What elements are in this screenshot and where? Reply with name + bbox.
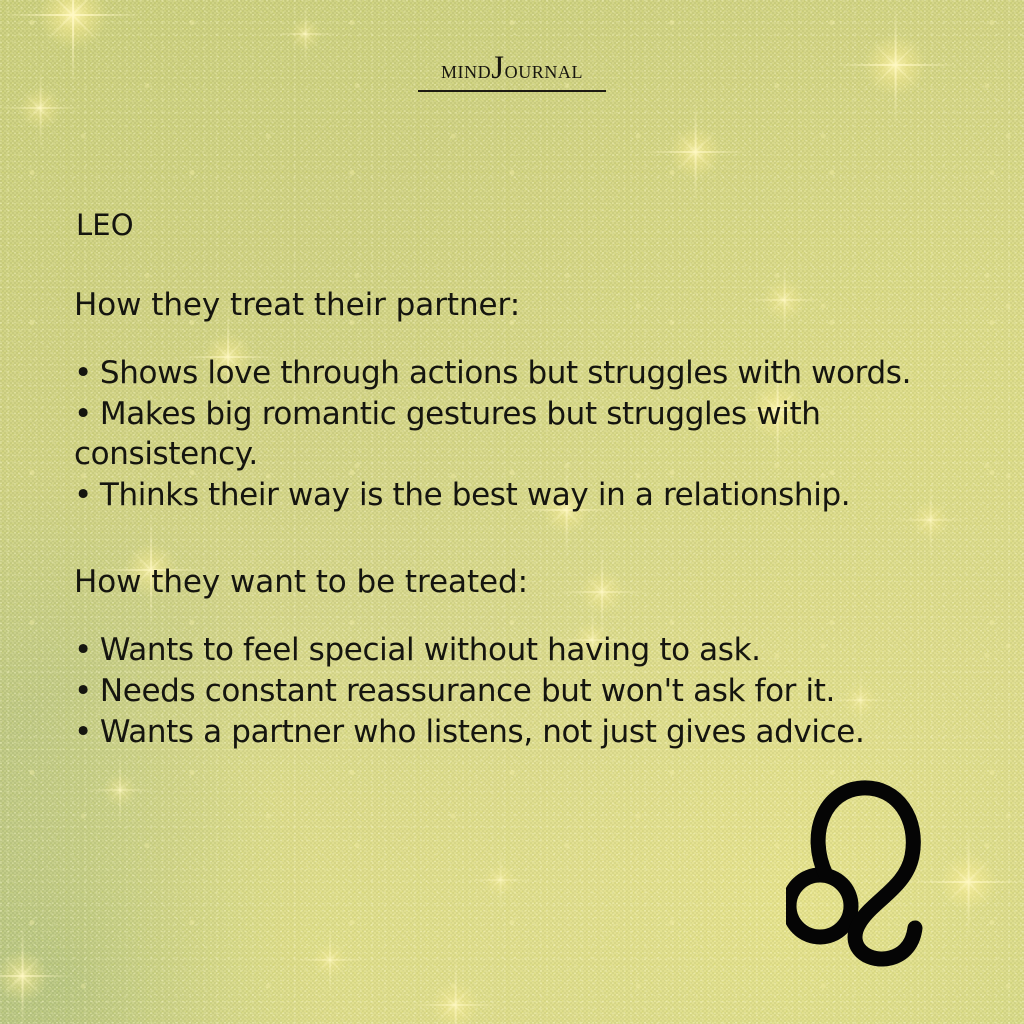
bullet-marker-icon: • [74,632,92,668]
bullet-item: •Thinks their way is the best way in a r… [74,476,954,515]
bullet-marker-icon: • [74,673,92,709]
content-section: How they want to be treated:•Wants to fe… [74,564,954,752]
bullet-text: Shows love through actions but struggles… [100,355,911,391]
bullet-text: Makes big romantic gestures but struggle… [74,396,821,471]
bullet-marker-icon: • [74,355,92,391]
post-content: LEO How they treat their partner:•Shows … [74,208,954,754]
bullet-marker-icon: • [74,714,92,750]
bullet-item: •Wants to feel special without having to… [74,631,954,670]
bullet-text: Thinks their way is the best way in a re… [100,477,850,513]
bullet-list: •Wants to feel special without having to… [74,631,954,752]
logo-letter-j: J [491,50,504,86]
sections-container: How they treat their partner:•Shows love… [74,287,954,752]
bullet-item: •Shows love through actions but struggle… [74,354,954,393]
brand-logo-underline [418,90,606,92]
zodiac-sign-title: LEO [76,208,954,242]
bullet-text: Wants a partner who listens, not just gi… [100,714,865,750]
bullet-item: •Wants a partner who listens, not just g… [74,713,954,752]
bullet-list: •Shows love through actions but struggle… [74,354,954,514]
bullet-item: •Makes big romantic gestures but struggl… [74,395,954,473]
brand-logo[interactable]: mindJournal [0,52,1024,92]
bullet-text: Needs constant reassurance but won't ask… [100,673,835,709]
bullet-text: Wants to feel special without having to … [100,632,761,668]
bullet-marker-icon: • [74,477,92,513]
brand-logo-text: mindJournal [441,52,583,85]
section-heading: How they treat their partner: [74,287,954,324]
section-heading: How they want to be treated: [74,564,954,601]
leo-zodiac-icon [786,770,966,970]
content-section: How they treat their partner:•Shows love… [74,287,954,514]
bullet-item: •Needs constant reassurance but won't as… [74,672,954,711]
logo-word-ournal: ournal [505,55,583,84]
section-spacer [74,517,954,564]
instagram-post-card: mindJournal LEO How they treat their par… [0,0,1024,1024]
bullet-marker-icon: • [74,396,92,432]
logo-word-mind: mind [441,55,491,84]
